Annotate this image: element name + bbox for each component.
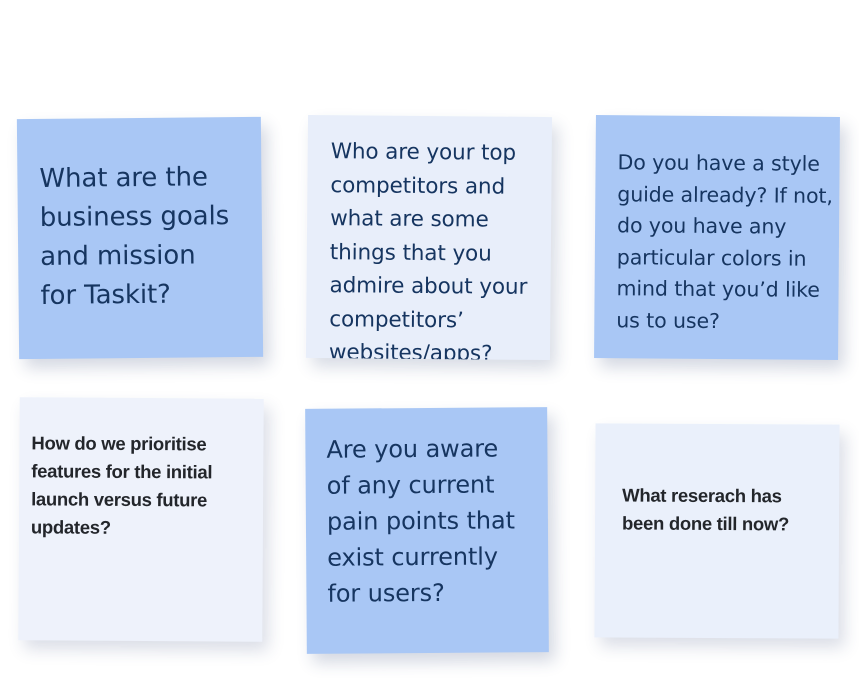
- sticky-note-text: Are you aware of any current pain points…: [326, 430, 548, 612]
- sticky-note-business-goals[interactable]: What are the business goals and mission …: [17, 117, 263, 359]
- sticky-note-style-guide[interactable]: Do you have a style guide already? If no…: [594, 115, 840, 360]
- sticky-note-pain-points[interactable]: Are you aware of any current pain points…: [305, 407, 549, 654]
- sticky-note-prioritise-features[interactable]: How do we prioritise features for the in…: [18, 397, 263, 641]
- sticky-note-research-done[interactable]: What reserach has been done till now?: [594, 423, 839, 638]
- sticky-note-text: What reserach has been done till now?: [622, 482, 839, 539]
- sticky-note-text: What are the business goals and mission …: [39, 158, 262, 316]
- sticky-note-board: What are the business goals and mission …: [0, 0, 859, 693]
- sticky-note-text: Do you have a style guide already? If no…: [616, 147, 839, 338]
- sticky-note-text: How do we prioritise features for the in…: [31, 429, 264, 542]
- sticky-note-competitors[interactable]: Who are your top competitors and what ar…: [306, 115, 552, 360]
- sticky-note-text: Who are your top competitors and what ar…: [329, 135, 552, 360]
